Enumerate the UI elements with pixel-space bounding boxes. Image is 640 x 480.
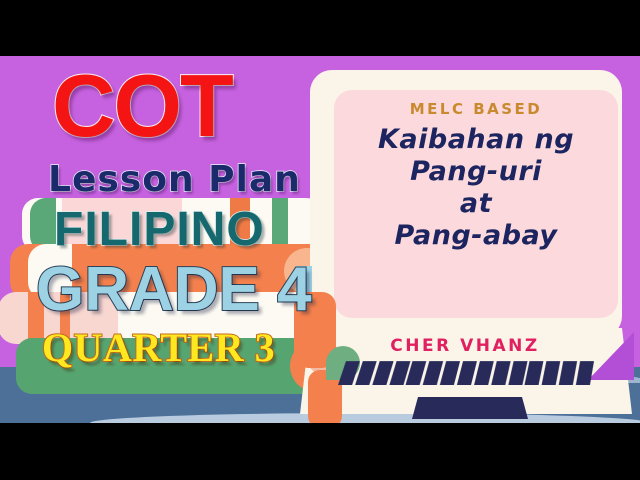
subject-filipino: FILIPINO — [54, 202, 265, 257]
topic-line-1: Kaibahan ng — [334, 124, 618, 156]
letterbox-bottom — [0, 423, 640, 480]
keyboard-key — [491, 361, 510, 385]
topic-line-2: Pang-uri — [334, 156, 618, 188]
laptop-screen: MELC BASED Kaibahan ng Pang-uri at Pang-… — [334, 90, 618, 318]
topic-line-4: Pang-abay — [334, 220, 618, 252]
letterbox-top — [0, 0, 640, 56]
quarter-badge: QUARTER 3 — [42, 324, 275, 371]
brand-label-cher-vhanz: CHER VHANZ — [300, 336, 630, 356]
keyboard-key — [525, 361, 544, 385]
poster-canvas: COT Lesson Plan FILIPINO GRADE 4 QUARTER… — [0, 0, 640, 480]
page-title-cot: COT — [52, 64, 232, 148]
laptop-lid: MELC BASED Kaibahan ng Pang-uri at Pang-… — [310, 70, 622, 338]
laptop-illustration: MELC BASED Kaibahan ng Pang-uri at Pang-… — [300, 70, 630, 420]
laptop-trackpad — [412, 397, 528, 419]
keyboard-key — [474, 361, 494, 385]
poster-artwork: COT Lesson Plan FILIPINO GRADE 4 QUARTER… — [0, 56, 640, 423]
keyboard-key — [542, 361, 561, 385]
grade-level: GRADE 4 — [36, 254, 312, 325]
keyboard-key — [576, 361, 594, 385]
melc-badge: MELC BASED — [334, 100, 618, 118]
subtitle-lesson-plan: Lesson Plan — [48, 159, 301, 200]
topic-line-3: at — [334, 188, 618, 220]
lesson-topic-title: Kaibahan ng Pang-uri at Pang-abay — [334, 124, 618, 251]
keyboard-key — [559, 361, 577, 385]
laptop-keyboard — [341, 361, 593, 385]
